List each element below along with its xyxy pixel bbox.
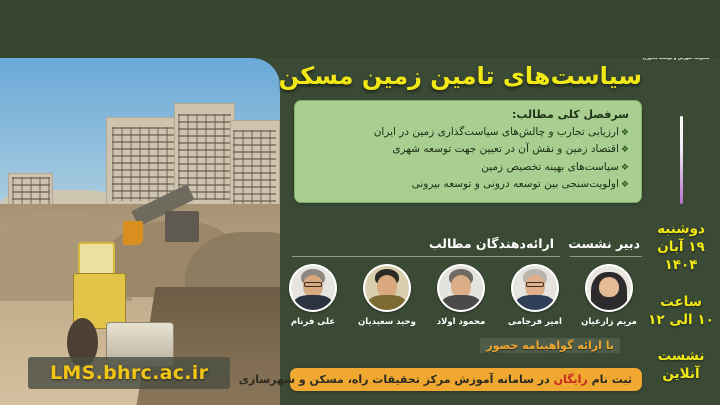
avatar (437, 264, 485, 312)
lms-url-text: LMS.bhrc.ac.ir (50, 362, 208, 384)
person-card: علی فرنام (284, 264, 342, 327)
person-card: محمود اولاد (432, 264, 490, 327)
avatar (289, 264, 337, 312)
page-title: سیاست‌های تامین زمین مسکن (287, 62, 642, 90)
presenters-rule (292, 256, 560, 257)
speakers-section: دبیر نشست ارائه‌دهندگان مطالب مریم زا (287, 236, 642, 348)
presenters-label: ارائه‌دهندگان مطالب (429, 236, 554, 251)
topics-card: سرفصل کلی مطالب: ❖ارزیابی تجارب و چالش‌ه… (294, 100, 642, 203)
speakers-headings: دبیر نشست ارائه‌دهندگان مطالب (287, 236, 642, 258)
portrait (365, 266, 409, 310)
person-name: محمود اولاد (437, 317, 486, 327)
topic-text: اقتصاد زمین و نقش آن در تعیین جهت توسعه … (392, 143, 619, 155)
topic-item: ❖اقتصاد زمین و نقش آن در تعیین جهت توسعه… (307, 141, 629, 158)
register-suffix: در سامانه آموزش مرکز تحقیقات راه، مسکن و… (239, 373, 550, 386)
event-date-block: دوشنبه ۱۹ آبان ۱۴۰۴ (657, 220, 705, 275)
person-name: مریم زارعیان (581, 317, 637, 327)
topic-text: سیاست‌های بهینه تخصیص زمین (481, 161, 619, 173)
secretary-label: دبیر نشست (568, 236, 640, 251)
event-mode-line2: آنلاین (658, 365, 705, 383)
bullet-icon: ❖ (621, 180, 629, 190)
topic-item: ❖ارزیابی تجارب و چالش‌های سیاست‌گذاری زم… (307, 124, 629, 141)
topic-text: اولویت‌سنجی بین توسعه درونی و توسعه بیرو… (412, 178, 619, 190)
event-mode-block: نشست آنلاین (658, 347, 705, 383)
main-column: سیاست‌های تامین زمین مسکن سرفصل کلی مطال… (287, 58, 642, 405)
photo-excavator-body (165, 211, 199, 242)
right-sidebar: دوشنبه ۱۹ آبان ۱۴۰۴ ساعت ۱۰ الی ۱۲ نشست … (642, 58, 720, 405)
construction-site-photo (0, 58, 280, 405)
certificate-note: با ارائه گواهینامه حضور (480, 338, 620, 353)
bullet-icon: ❖ (621, 145, 629, 155)
event-time-label: ساعت (648, 293, 714, 311)
person-card: مریم زارعیان (580, 264, 638, 327)
lms-url-plate[interactable]: LMS.bhrc.ac.ir (28, 357, 230, 389)
avatar (363, 264, 411, 312)
topics-heading: سرفصل کلی مطالب: (307, 108, 629, 121)
avatar (585, 264, 633, 312)
event-time-block: ساعت ۱۰ الی ۱۲ (648, 293, 714, 329)
poster-root: مرکز تحقیقات راه، مسکن و شهرسازی معاونت … (0, 0, 720, 405)
secretary-rule (570, 256, 642, 257)
person-card: وحید سعیدیان (358, 264, 416, 327)
event-time-value: ۱۰ الی ۱۲ (648, 311, 714, 329)
portrait (587, 266, 631, 310)
photo-excavator-bucket (123, 221, 143, 245)
sidebar-divider (680, 116, 683, 204)
topic-item: ❖اولویت‌سنجی بین توسعه درونی و توسعه بیر… (307, 176, 629, 193)
person-name: علی فرنام (291, 317, 335, 327)
register-prefix: ثبت نام (592, 373, 632, 386)
speakers-row: مریم زارعیان امیر فرجامی (287, 264, 642, 348)
photo-apartment-block-d (8, 173, 53, 208)
event-date-day-month: ۱۹ آبان (657, 238, 705, 256)
header-band (0, 0, 720, 58)
photo-apartment-block-c (230, 120, 280, 210)
avatar (511, 264, 559, 312)
register-banner[interactable]: ثبت نام رایگان در سامانه آموزش مرکز تحقی… (290, 368, 642, 391)
portrait (513, 266, 557, 310)
event-date-weekday: دوشنبه (657, 220, 705, 238)
topic-item: ❖سیاست‌های بهینه تخصیص زمین (307, 159, 629, 176)
portrait (291, 266, 335, 310)
portrait (439, 266, 483, 310)
register-text: ثبت نام رایگان در سامانه آموزش مرکز تحقی… (300, 373, 632, 386)
register-highlight: رایگان (554, 373, 588, 386)
topics-list: ❖ارزیابی تجارب و چالش‌های سیاست‌گذاری زم… (307, 124, 629, 193)
person-name: امیر فرجامی (508, 317, 562, 327)
event-mode-line1: نشست (658, 347, 705, 365)
event-date-year: ۱۴۰۴ (657, 256, 705, 274)
bullet-icon: ❖ (621, 163, 629, 173)
topic-text: ارزیابی تجارب و چالش‌های سیاست‌گذاری زمی… (374, 126, 619, 138)
bullet-icon: ❖ (621, 128, 629, 138)
person-name: وحید سعیدیان (358, 317, 416, 327)
person-card: امیر فرجامی (506, 264, 564, 327)
